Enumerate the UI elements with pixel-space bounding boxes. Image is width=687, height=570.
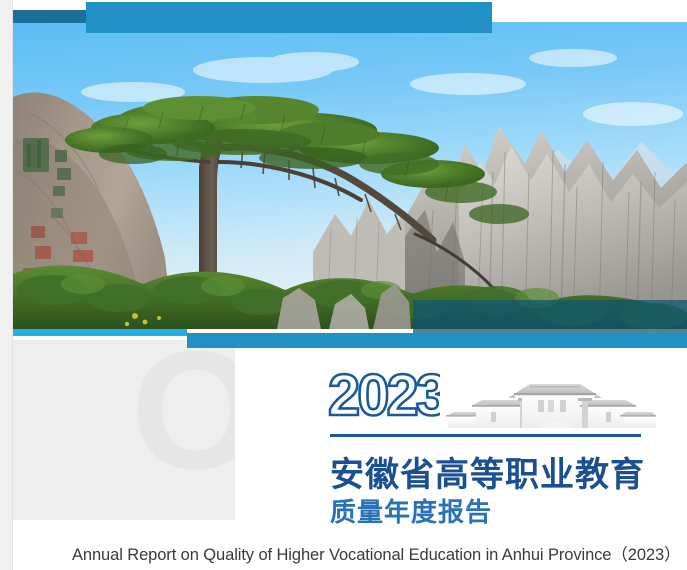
title-block: 2023 [328, 368, 658, 430]
year-row: 2023 [328, 368, 658, 430]
year-text: 2023 [328, 370, 440, 426]
title-chinese-main: 安徽省高等职业教育 [330, 455, 645, 495]
report-cover-page: ORI 2023 [0, 0, 687, 570]
huangshan-greeting-pine-photo [13, 22, 687, 329]
title-divider-rule [330, 434, 641, 437]
watermark-text: ORI [131, 340, 235, 494]
hui-architecture-illustration [446, 376, 656, 428]
top-blue-accent-bar [86, 2, 492, 33]
top-dark-accent-bar [13, 10, 87, 23]
under-photo-cyan-bar [13, 329, 187, 336]
under-photo-blue-bar [187, 333, 687, 348]
photo-teal-overlay [413, 300, 687, 333]
year-numerals: 2023 [328, 370, 440, 426]
subtitle-english: Annual Report on Quality of Higher Vocat… [72, 541, 680, 565]
watermark-panel: ORI [13, 340, 235, 520]
title-chinese-sub: 质量年度报告 [330, 497, 492, 528]
